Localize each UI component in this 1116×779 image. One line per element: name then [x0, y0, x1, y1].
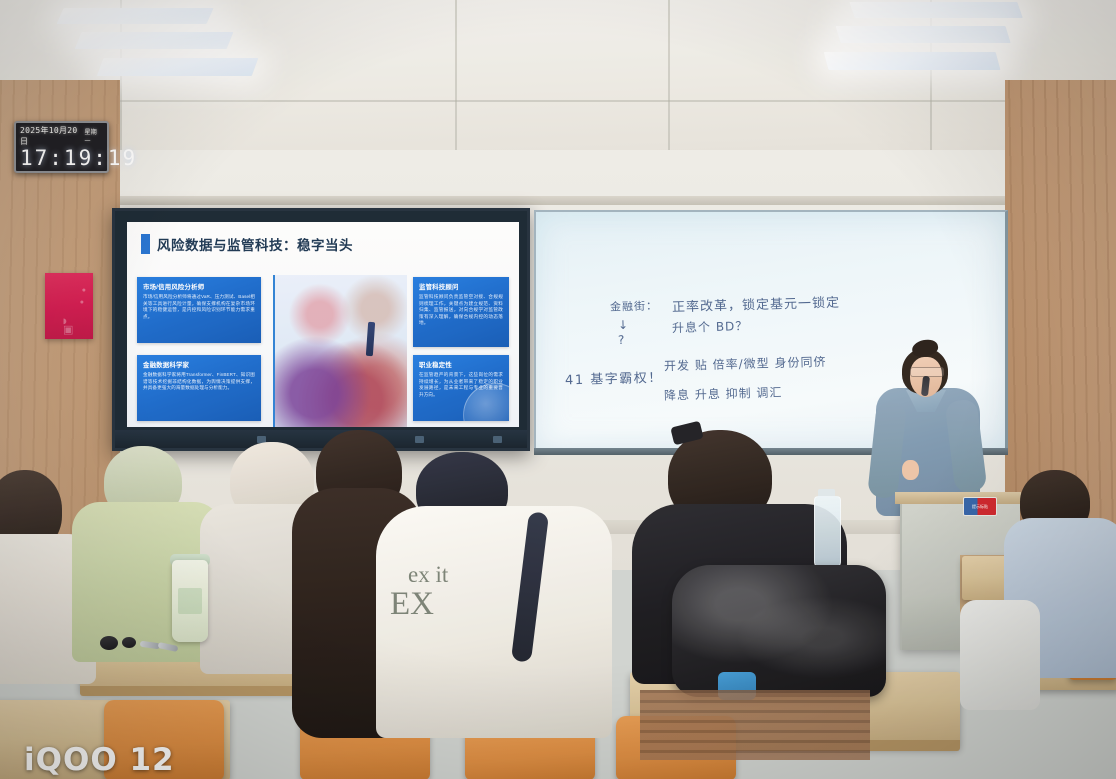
whiteboard-note: 降息 升息 抑制 调汇: [664, 383, 783, 403]
water-bottle: [814, 496, 841, 568]
slide-box-heading: 金融数据科学家: [143, 360, 255, 369]
ceiling-light-panel: [849, 2, 1023, 18]
whiteboard-note: ↓: [618, 318, 628, 332]
photo-tie: [366, 322, 375, 356]
jacket-text-line1: ex it: [408, 562, 448, 588]
lectern-top: [895, 492, 1021, 504]
device-watermark: iQOO 12: [24, 742, 175, 778]
whiteboard-note: 41 基字霸权！: [565, 367, 663, 389]
lecturer-hand: [902, 460, 919, 480]
slide-stock-photo: [273, 275, 407, 427]
slide-box-heading: 职业稳定性: [419, 360, 503, 369]
red-wall-poster: ● ● ◗ ▣: [45, 273, 93, 339]
black-jacket-on-desk: [672, 565, 886, 697]
ceiling-light-panel: [835, 26, 1010, 43]
ceiling-light-panel: [75, 32, 234, 49]
student-white-jacket: ex it EX: [396, 452, 616, 732]
photo-shirt: [354, 321, 398, 375]
lectern-sticker: 提示标贴: [963, 497, 997, 516]
slide-box-heading: 市场/信用风险分析师: [143, 282, 255, 291]
clock-date-row: 2025年10月20日 星期一: [20, 125, 103, 147]
pens-on-desk: [140, 642, 186, 652]
clock-date: 2025年10月20日: [20, 125, 84, 147]
screen-button[interactable]: [493, 436, 502, 443]
slide-title: 风险数据与监管科技：稳字当头: [157, 234, 353, 254]
thermos-label: [178, 588, 202, 614]
white-backpack: [960, 600, 1040, 710]
clock-time: 17:19:19: [20, 147, 103, 169]
projector-screen: 风险数据与监管科技：稳字当头 市场/信用风险分析师 市场/信用风险分析师将通过V…: [112, 208, 530, 451]
desk-edge: [80, 686, 310, 696]
whiteboard-note: 金融街：: [610, 297, 658, 314]
ceiling-light-panel: [56, 8, 213, 24]
wall-digital-clock: 2025年10月20日 星期一 17:19:19: [14, 121, 109, 173]
whiteboard-note: ?: [618, 333, 625, 347]
slide-box-body: 监管科技顾问负责监管空对接、合规规则梳理工作，关键点为建立规范、资料归集、监管报…: [419, 294, 503, 327]
ceiling-light-panel: [97, 58, 259, 76]
slide-title-accent-bar: [141, 234, 150, 254]
slide-box-body: 金融数据科学家将用Transformer、FinBERT、知识图谱等技术挖掘非结…: [143, 372, 255, 392]
whiteboard-note: 升息个 BD？: [672, 317, 749, 336]
slide-box-financial-data-scientist: 金融数据科学家 金融数据科学家将用Transformer、FinBERT、知识图…: [137, 355, 261, 421]
slide-box-body: 市场/信用风险分析师将通过VaR、压力测试、Basel相关等工具进行风险计量，确…: [143, 294, 255, 320]
slide-title-row: 风险数据与监管科技：稳字当头: [141, 234, 353, 254]
ceiling-seam: [120, 100, 1005, 102]
ceiling-light-panel: [824, 52, 1001, 70]
clock-weekday: 星期一: [84, 127, 103, 145]
slide-box-career-stability: 职业稳定性 在监管趋严的背景下，这些岗位的需求持续增长，为从业者带来了稳定的职业…: [413, 355, 509, 421]
presentation-slide: 风险数据与监管科技：稳字当头 市场/信用风险分析师 市场/信用风险分析师将通过V…: [127, 222, 519, 427]
slide-box-regtech-consultant: 监管科技顾问 监管科技顾问负责监管空对接、合规规则梳理工作，关键点为建立规范、资…: [413, 277, 509, 347]
slide-box-heading: 监管科技顾问: [419, 282, 503, 291]
desk-front-panel: [640, 690, 870, 760]
classroom-photo: 2025年10月20日 星期一 17:19:19 ● ● ◗ ▣ 风险数据与监管…: [0, 0, 1116, 779]
slide-box-market-credit-risk-analyst: 市场/信用风险分析师 市场/信用风险分析师将通过VaR、压力测试、Basel相关…: [137, 277, 261, 343]
wall-trim: [120, 196, 1005, 205]
jacket-text-line2: EX: [390, 586, 434, 623]
